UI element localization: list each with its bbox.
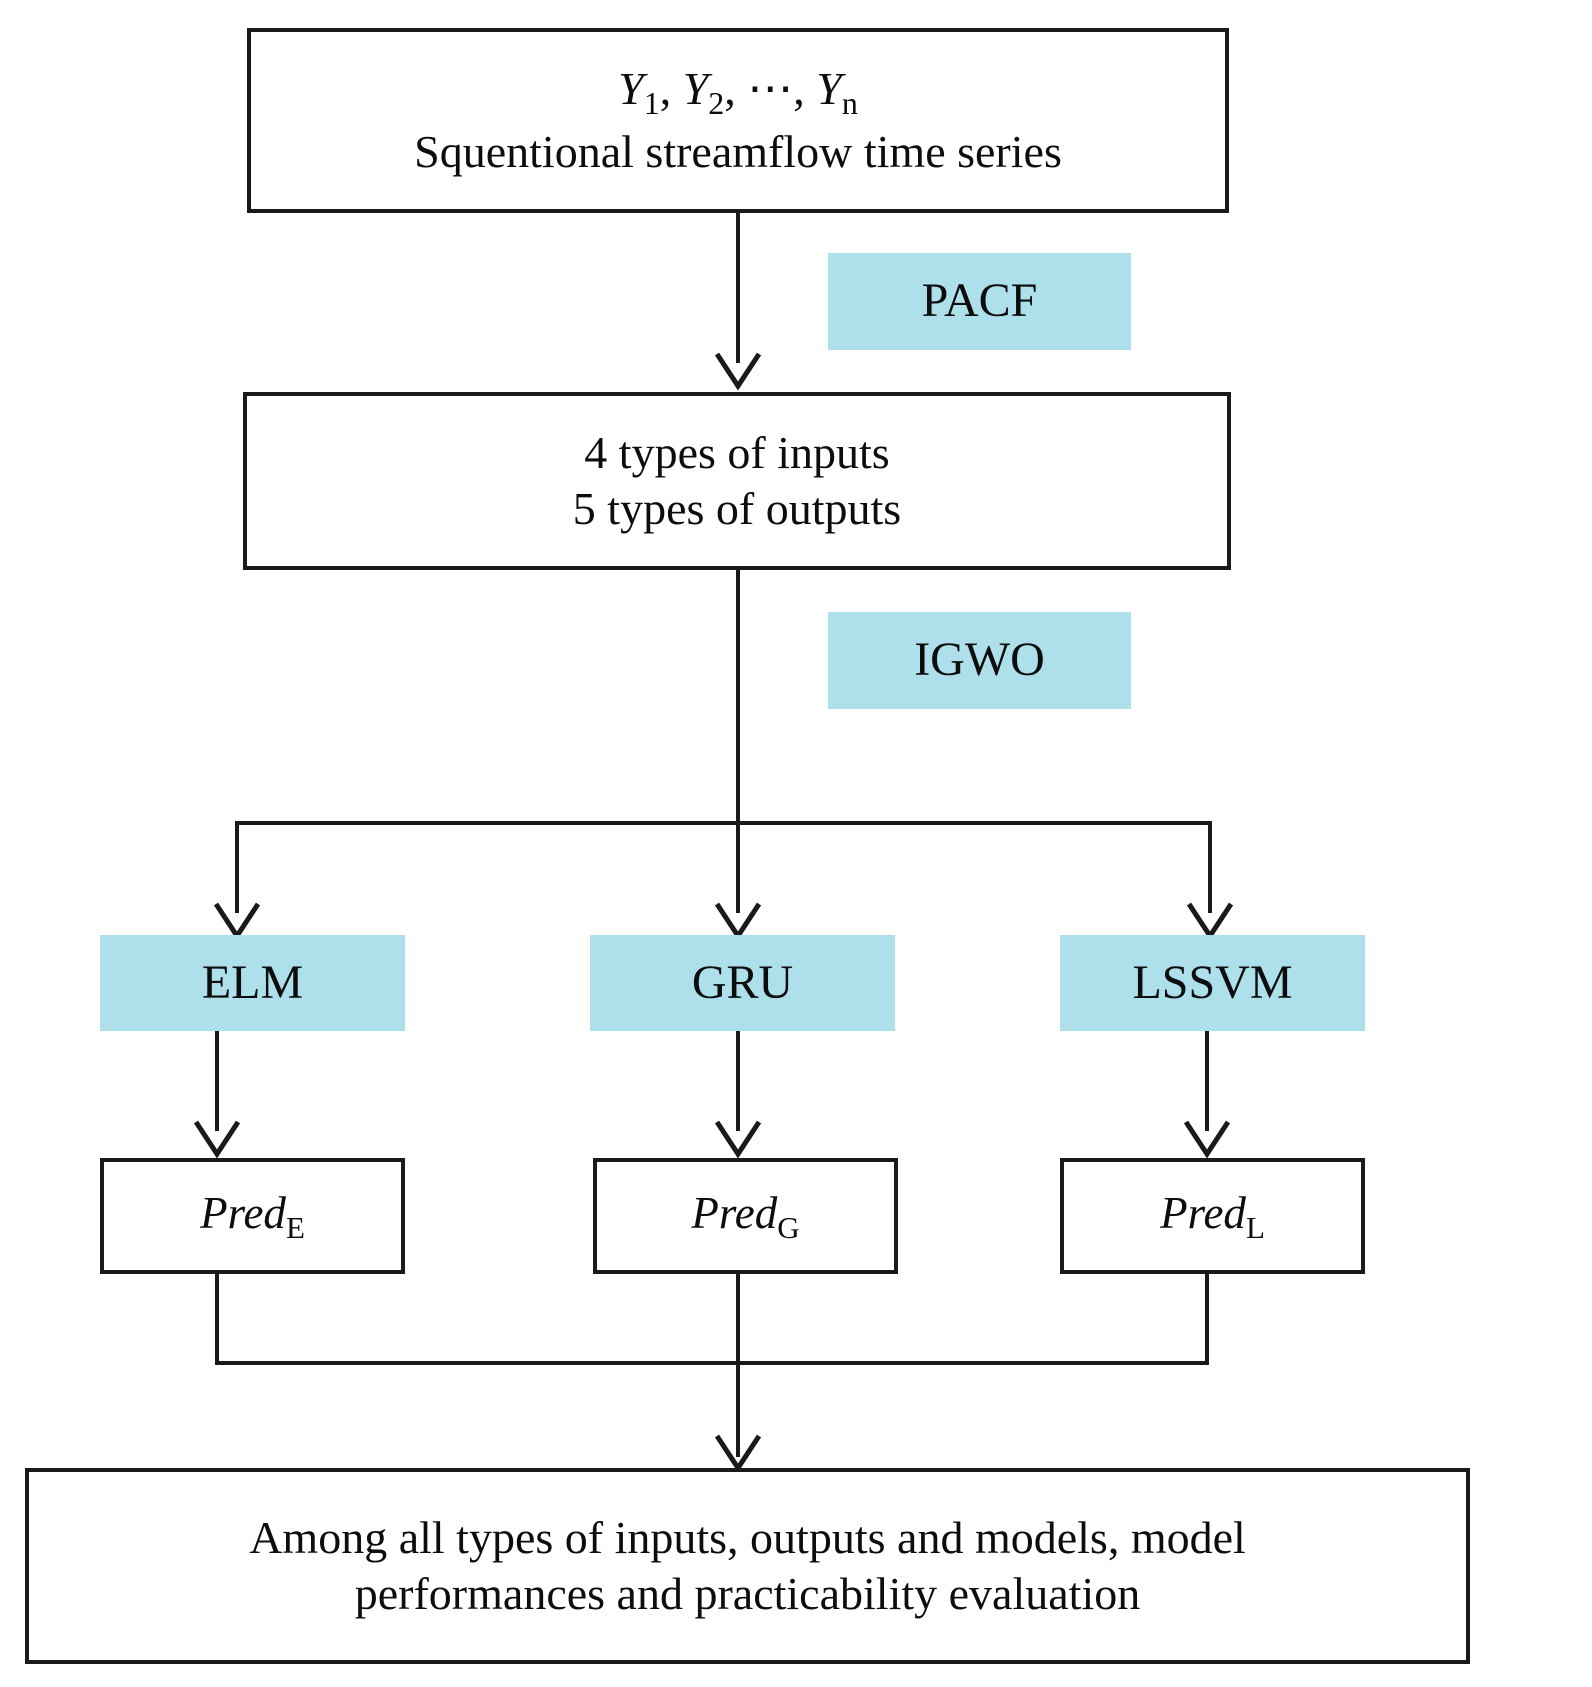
symbol-y-1: Y [618, 63, 644, 114]
node-io-types[interactable]: 4 types of inputs 5 types of outputs [243, 392, 1231, 570]
node-evaluation[interactable]: Among all types of inputs, outputs and m… [25, 1468, 1470, 1664]
pred-base-e: Pred [200, 1188, 286, 1238]
node-input-series-line1: Y1, Y2, ⋯, Yn [618, 61, 858, 123]
branch-left-vertical [235, 821, 239, 913]
node-model-elm-label: ELM [202, 954, 303, 1013]
split-bar-models [235, 821, 1212, 825]
node-pred-e-label: PredE [200, 1186, 305, 1247]
node-io-types-line1: 4 types of inputs [584, 425, 889, 481]
merge-stem-right [1205, 1274, 1209, 1365]
node-pred-g-label: PredG [691, 1186, 799, 1247]
connector-gru-to-pred [736, 1031, 740, 1131]
ellipsis: , ⋯, [724, 63, 816, 114]
node-pred-e[interactable]: PredE [100, 1158, 405, 1274]
node-input-series[interactable]: Y1, Y2, ⋯, Yn Squentional streamflow tim… [247, 28, 1229, 213]
node-pred-l[interactable]: PredL [1060, 1158, 1365, 1274]
node-pacf[interactable]: PACF [828, 253, 1131, 350]
node-pred-l-label: PredL [1160, 1186, 1265, 1247]
connector-input-to-io [736, 213, 740, 363]
subscript-1: 1 [644, 86, 660, 122]
connector-lssvm-to-pred [1205, 1031, 1209, 1131]
flowchart-canvas: Y1, Y2, ⋯, Yn Squentional streamflow tim… [0, 0, 1592, 1687]
pred-subscript-g: G [777, 1210, 799, 1245]
node-model-gru-label: GRU [692, 954, 793, 1013]
node-model-elm[interactable]: ELM [100, 935, 405, 1031]
merge-stem-left [215, 1274, 219, 1365]
node-evaluation-line2: performances and practicability evaluati… [355, 1566, 1140, 1622]
branch-middle-vertical [736, 821, 740, 913]
node-pred-g[interactable]: PredG [593, 1158, 898, 1274]
branch-right-vertical [1208, 821, 1212, 913]
node-model-lssvm-label: LSSVM [1132, 954, 1292, 1013]
merge-stem-middle [736, 1274, 740, 1365]
node-model-lssvm[interactable]: LSSVM [1060, 935, 1365, 1031]
subscript-2: 2 [708, 86, 724, 122]
node-pacf-label: PACF [922, 272, 1038, 331]
node-igwo[interactable]: IGWO [828, 612, 1131, 709]
pred-subscript-e: E [286, 1210, 305, 1245]
connector-elm-to-pred [215, 1031, 219, 1131]
node-igwo-label: IGWO [914, 631, 1045, 690]
merge-bar-predictions [215, 1361, 1209, 1365]
pred-base-l: Pred [1160, 1188, 1246, 1238]
node-input-series-line2: Squentional streamflow time series [414, 124, 1062, 180]
symbol-y-n: Y [816, 63, 842, 114]
connector-io-to-split [736, 570, 740, 825]
separator-1: , [660, 63, 683, 114]
pred-subscript-l: L [1246, 1210, 1265, 1245]
pred-base-g: Pred [691, 1188, 777, 1238]
node-model-gru[interactable]: GRU [590, 935, 895, 1031]
symbol-y-2: Y [683, 63, 709, 114]
node-io-types-line2: 5 types of outputs [573, 481, 901, 537]
node-evaluation-line1: Among all types of inputs, outputs and m… [249, 1510, 1246, 1566]
subscript-n: n [842, 86, 858, 122]
